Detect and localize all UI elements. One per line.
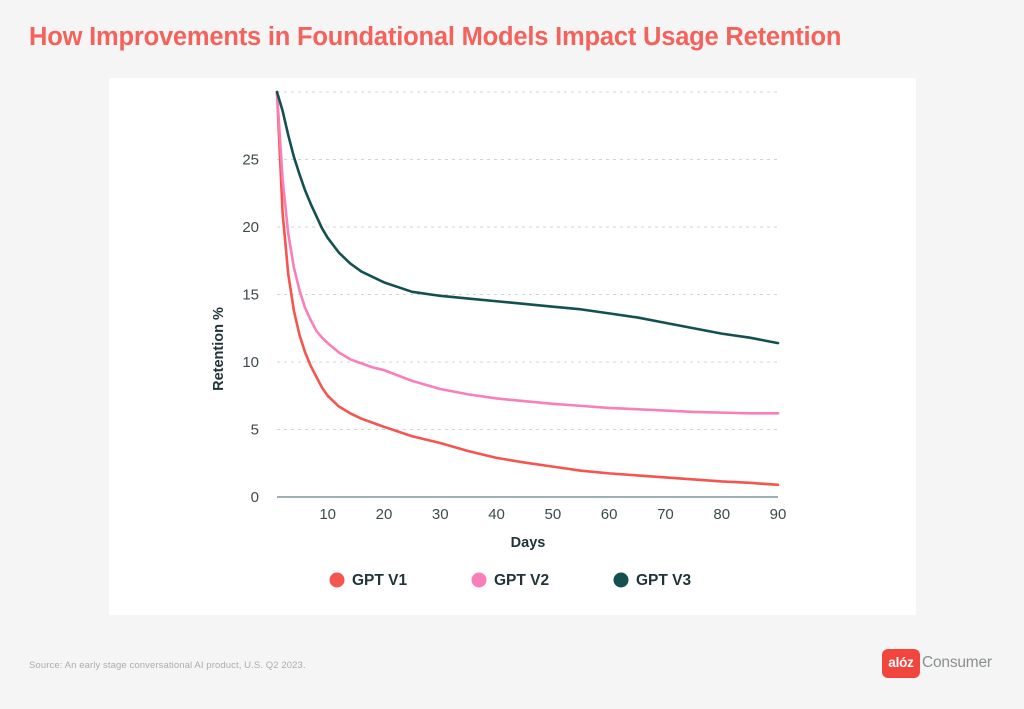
brand-logo-word: Consumer	[922, 654, 992, 672]
series-line-gpt-v3	[277, 92, 778, 343]
gridlines	[277, 92, 778, 430]
x-tick-label: 60	[601, 506, 618, 523]
x-tick-label: 10	[319, 506, 336, 523]
chart-legend: GPT V1GPT V2GPT V3	[330, 572, 692, 589]
series-line-gpt-v2	[277, 92, 778, 413]
x-tick-label: 40	[488, 506, 505, 523]
y-tick-label: 15	[242, 287, 259, 304]
y-tick-label: 5	[251, 422, 259, 439]
y-tick-label: 20	[242, 219, 259, 236]
x-tick-label: 90	[770, 506, 787, 523]
legend-item-gpt-v3[interactable]: GPT V3	[614, 572, 692, 589]
y-tick-label: 25	[242, 152, 259, 169]
y-tick-label: 0	[251, 489, 259, 506]
brand-logo-mark-text: alóz	[888, 656, 913, 671]
x-axis-title: Days	[511, 535, 546, 551]
page-title: How Improvements in Foundational Models …	[29, 20, 969, 54]
x-tick-label: 50	[544, 506, 561, 523]
x-tick-label: 30	[432, 506, 449, 523]
legend-swatch-icon	[330, 573, 345, 588]
x-tick-label: 70	[657, 506, 674, 523]
legend-label: GPT V3	[636, 572, 692, 589]
brand-logo-mark: alóz	[882, 649, 920, 678]
y-axis-title: Retention %	[211, 307, 227, 391]
legend-label: GPT V1	[352, 572, 408, 589]
brand-logo: alóz Consumer	[882, 648, 992, 678]
y-tick-label: 10	[242, 354, 259, 371]
retention-line-chart: 0510152025 102030405060708090 Retention …	[109, 78, 916, 615]
legend-label: GPT V2	[494, 572, 549, 589]
x-axis-tick-labels: 102030405060708090	[319, 506, 786, 523]
series-lines	[277, 92, 778, 485]
source-note: Source: An early stage conversational AI…	[29, 660, 306, 671]
x-tick-label: 20	[376, 506, 393, 523]
legend-swatch-icon	[614, 573, 629, 588]
series-line-gpt-v1	[277, 92, 778, 485]
legend-item-gpt-v1[interactable]: GPT V1	[330, 572, 408, 589]
x-tick-label: 80	[713, 506, 730, 523]
legend-swatch-icon	[472, 573, 487, 588]
y-axis-tick-labels: 0510152025	[242, 152, 259, 507]
chart-card: 0510152025 102030405060708090 Retention …	[109, 78, 916, 615]
legend-item-gpt-v2[interactable]: GPT V2	[472, 572, 550, 589]
